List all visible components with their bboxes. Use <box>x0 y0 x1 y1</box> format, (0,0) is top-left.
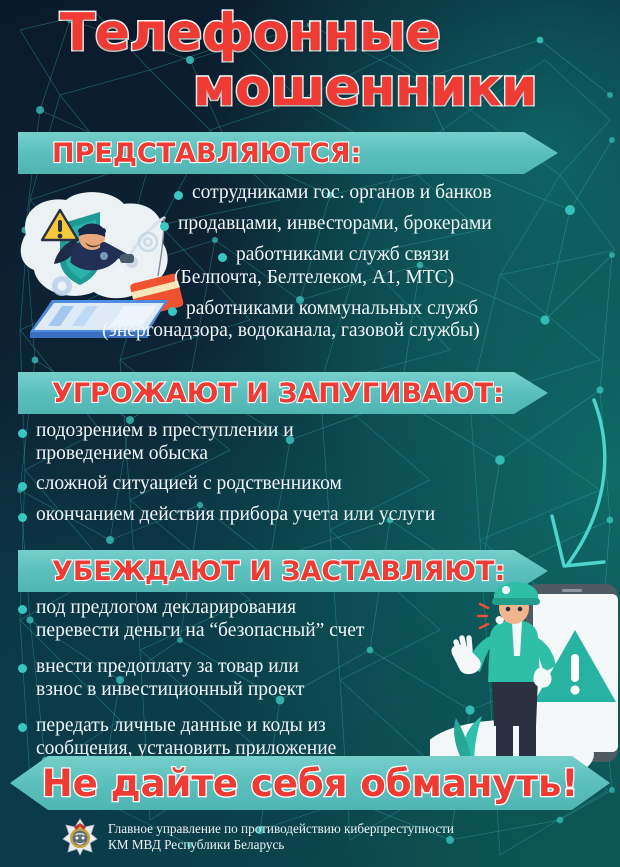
list-item-main: подозрением в преступлении и <box>36 420 294 441</box>
curved-down-arrow-icon <box>530 396 616 586</box>
list-item-main: под предлогом декларирования <box>36 597 296 618</box>
list-item-text: внести предоплату за товар или взнос в и… <box>36 655 304 702</box>
section-1-list: сотрудниками гос. органов и банков прода… <box>150 182 612 351</box>
poster-root: Телефонные мошенники <box>0 0 620 867</box>
bullet-dot-icon <box>18 723 27 732</box>
bullet-dot-icon <box>18 482 27 491</box>
bullet-dot-icon <box>18 605 27 614</box>
section-heading-banner-1: ПРЕДСТАВЛЯЮТСЯ: <box>18 132 558 174</box>
list-item-text: окончанием действия прибора учета или ус… <box>36 504 435 527</box>
bullet-dot-icon <box>174 191 183 200</box>
list-item: сложной ситуацией с родственником <box>18 473 608 496</box>
list-item-text: подозрением в преступлении и проведением… <box>36 420 294 465</box>
section-heading-banner-2: УГРОЖАЮТ И ЗАПУГИВАЮТ: <box>18 372 548 414</box>
list-item: подозрением в преступлении и проведением… <box>18 420 608 465</box>
list-item-sub: (энергонадзора, водоканала, газовой служ… <box>102 320 480 342</box>
list-item: передать личные данные и коды из сообщен… <box>18 714 488 761</box>
list-item-text: сотрудниками гос. органов и банков <box>192 182 492 204</box>
section-3-list: под предлогом декларирования перевести д… <box>18 596 488 772</box>
list-item: окончанием действия прибора учета или ус… <box>18 504 608 527</box>
list-item-text: под предлогом декларирования перевести д… <box>36 596 364 643</box>
list-item-text: работниками коммунальных служб (энергона… <box>186 298 480 342</box>
list-item-main: внести предоплату за товар или <box>36 656 299 677</box>
list-item-text: передать личные данные и коды из сообщен… <box>36 714 336 761</box>
list-item-sub: перевести деньги на “безопасный” счет <box>36 619 364 642</box>
list-item-main: работниками коммунальных служб <box>186 298 478 319</box>
list-item: внести предоплату за товар или взнос в и… <box>18 655 488 702</box>
list-item: под предлогом декларирования перевести д… <box>18 596 488 643</box>
section-heading-1-text: ПРЕДСТАВЛЯЮТСЯ: <box>52 138 361 169</box>
list-item-sub: взнос в инвестиционный проект <box>36 678 304 701</box>
list-item-text: продавцами, инвесторами, брокерами <box>178 213 492 235</box>
footer-line-1: Главное управление по противодействию ки… <box>108 821 454 837</box>
footer: Главное управление по противодействию ки… <box>62 818 454 856</box>
bullet-dot-icon <box>160 222 169 231</box>
list-item-sub: проведением обыска <box>36 443 294 466</box>
section-2-list: подозрением в преступлении и проведением… <box>18 420 608 534</box>
list-item-main: передать личные данные и коды из <box>36 715 326 736</box>
list-item-text: работниками служб связи (Белпочта, Белте… <box>236 244 454 288</box>
page-title: Телефонные мошенники <box>0 8 620 114</box>
section-heading-2-text: УГРОЖАЮТ И ЗАПУГИВАЮТ: <box>52 378 504 409</box>
list-item: продавцами, инвесторами, брокерами <box>160 213 612 235</box>
arrow-svg <box>530 396 616 586</box>
title-line-2: мошенники <box>0 63 620 114</box>
bullet-dot-icon <box>218 253 227 262</box>
bullet-dot-icon <box>18 664 27 673</box>
list-item-sub: (Белпочта, Белтелеком, А1, МТС) <box>174 267 454 289</box>
list-item: сотрудниками гос. органов и банков <box>174 182 612 204</box>
slogan-text: Не дайте себя обмануть! <box>42 762 579 805</box>
bullet-dot-icon <box>18 513 27 522</box>
list-item-main: работниками служб связи <box>236 244 449 265</box>
bullet-dot-icon <box>18 429 27 438</box>
footer-line-2: КМ МВД Республики Беларусь <box>108 837 454 853</box>
emblem-svg <box>62 818 98 856</box>
bullet-dot-icon <box>168 307 177 316</box>
title-line-1: Телефонные <box>0 8 620 59</box>
list-item: работниками служб связи (Белпочта, Белте… <box>218 244 612 288</box>
footer-text: Главное управление по противодействию ки… <box>108 821 454 853</box>
dot-decor <box>100 252 108 260</box>
slogan-banner: Не дайте себя обмануть! <box>10 756 610 810</box>
list-item-text: сложной ситуацией с родственником <box>36 473 342 496</box>
mvd-badge-emblem-icon <box>62 818 98 856</box>
gear-icon-2 <box>52 276 72 296</box>
list-item: работниками коммунальных служб (энергона… <box>168 298 612 342</box>
